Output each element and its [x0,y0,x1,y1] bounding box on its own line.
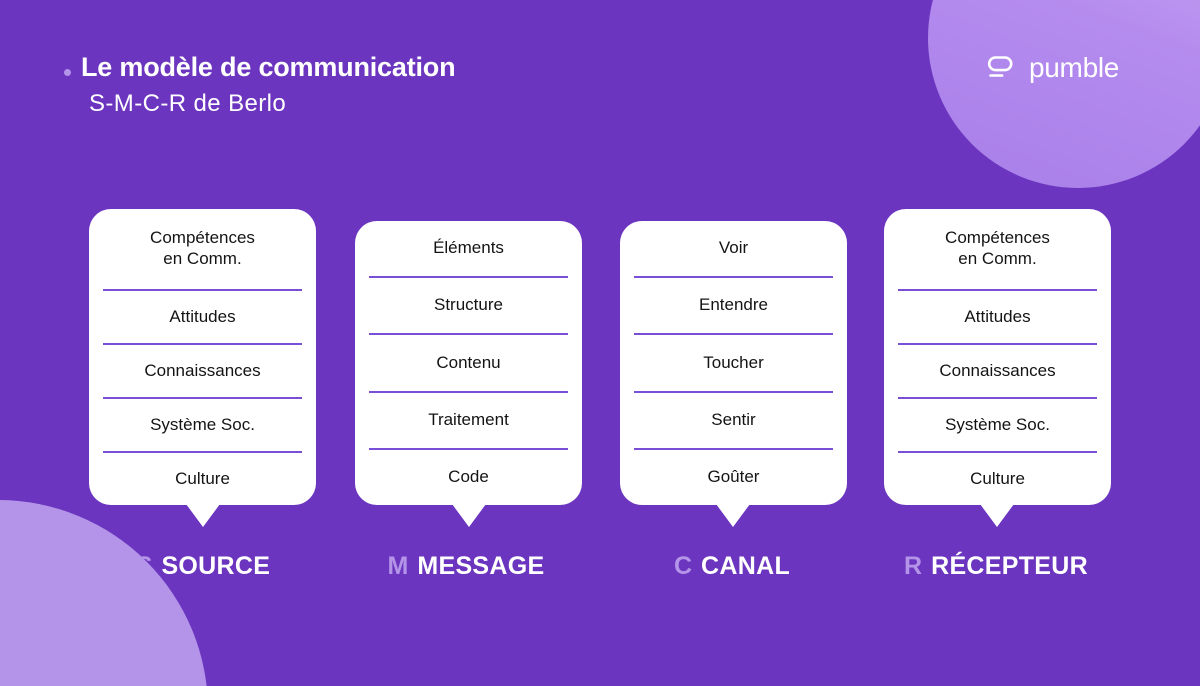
page-subtitle: S-M-C-R de Berlo [89,90,455,119]
card-item: Connaissances [898,343,1097,397]
card-item: Culture [898,451,1097,505]
card-item-label: Connaissances [935,361,1059,382]
column-label-source: S SOURCE [136,552,270,581]
card-item: Connaissances [103,343,302,397]
column-letter: S [136,552,153,581]
brand-logo: pumble [986,52,1119,84]
card-item: Éléments [369,221,568,276]
card-pointer-recepteur [980,504,1014,527]
card-item: Toucher [634,333,833,390]
card-item-label: Système Soc. [146,415,259,436]
card-item: Goûter [634,448,833,505]
column-word: RÉCEPTEUR [931,552,1088,581]
card-item-label: Connaissances [140,361,264,382]
card-recepteur: Compétencesen Comm.AttitudesConnaissance… [884,209,1111,505]
card-item: Code [369,448,568,505]
column-word: CANAL [701,552,790,581]
column-letter: M [388,552,409,581]
card-item-label: Compétencesen Comm. [146,228,259,269]
card-item-label: Entendre [695,295,772,316]
card-item: Compétencesen Comm. [103,209,302,289]
card-item-label: Attitudes [165,307,239,328]
card-item-label: Code [444,467,493,488]
card-item-label: Structure [430,295,507,316]
card-item-label: Contenu [432,353,504,374]
brand-name: pumble [1029,54,1119,82]
card-item: Compétencesen Comm. [898,209,1097,289]
decorative-circle-bottom-left [0,500,208,686]
card-item: Sentir [634,391,833,448]
dot-icon [64,69,71,76]
page-title: Le modèle de communication [81,52,455,84]
card-item: Structure [369,276,568,333]
column-word: MESSAGE [417,552,544,581]
card-item: Attitudes [898,289,1097,343]
card-pointer-message [452,504,486,527]
column-label-message: M MESSAGE [388,552,545,581]
card-message: ÉlémentsStructureContenuTraitementCode [355,221,582,505]
card-item-label: Attitudes [960,307,1034,328]
card-item-label: Voir [715,238,752,259]
card-pointer-source [186,504,220,527]
infographic-canvas: Le modèle de communication S-M-C-R de Be… [0,0,1200,686]
card-item-label: Sentir [707,410,759,431]
card-pointer-canal [716,504,750,527]
card-item: Contenu [369,333,568,390]
card-item-label: Culture [966,469,1029,490]
header: Le modèle de communication S-M-C-R de Be… [64,52,455,119]
card-item: Système Soc. [898,397,1097,451]
card-item-label: Système Soc. [941,415,1054,436]
card-item: Culture [103,451,302,505]
card-item: Système Soc. [103,397,302,451]
card-item: Traitement [369,391,568,448]
card-item-label: Culture [171,469,234,490]
pumble-speech-bubble-icon [986,52,1018,84]
card-item-label: Compétencesen Comm. [941,228,1054,269]
card-item-label: Toucher [699,353,767,374]
column-letter: C [674,552,692,581]
column-letter: R [904,552,922,581]
card-item: Voir [634,221,833,276]
column-label-canal: C CANAL [674,552,790,581]
card-item-label: Traitement [424,410,513,431]
card-item: Entendre [634,276,833,333]
column-label-recepteur: R RÉCEPTEUR [904,552,1088,581]
card-canal: VoirEntendreToucherSentirGoûter [620,221,847,505]
column-word: SOURCE [161,552,270,581]
decorative-circle-top-right [928,0,1200,188]
title-row: Le modèle de communication [64,52,455,84]
card-item: Attitudes [103,289,302,343]
card-item-label: Éléments [429,238,508,259]
card-source: Compétencesen Comm.AttitudesConnaissance… [89,209,316,505]
card-item-label: Goûter [704,467,764,488]
